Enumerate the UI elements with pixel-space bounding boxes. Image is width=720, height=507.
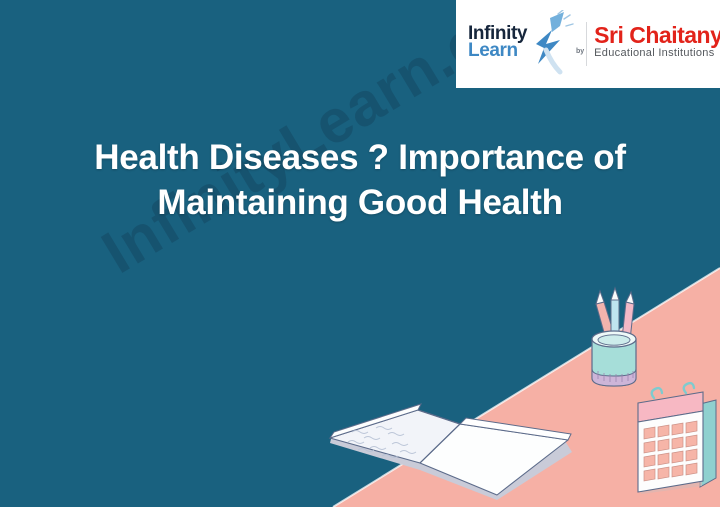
infinity-arrow-icon: [530, 10, 576, 76]
sri-chaitanya-name: Sri Chaitanya: [594, 24, 720, 47]
sri-chaitanya-subtitle: Educational Institutions: [594, 47, 720, 60]
learn-word: Learn: [468, 42, 527, 59]
logo-divider: [586, 22, 587, 66]
brand-logo-plate[interactable]: Infinity Learn by Sri Chaitanya Educatio…: [456, 0, 720, 88]
page-title-line-1: Health Diseases ? Importance of: [40, 136, 680, 181]
article-banner-image: InfinityLearn.com: [0, 0, 720, 507]
sri-chaitanya-logo: Sri Chaitanya Educational Institutions: [594, 24, 720, 65]
page-title-line-2: Maintaining Good Health: [40, 181, 680, 226]
infinity-learn-logo: Infinity Learn: [464, 8, 576, 80]
page-title: Health Diseases ? Importance of Maintain…: [40, 136, 680, 226]
logo-connector-by: by: [576, 48, 584, 55]
infinity-learn-wordmark: Infinity Learn: [468, 25, 527, 60]
